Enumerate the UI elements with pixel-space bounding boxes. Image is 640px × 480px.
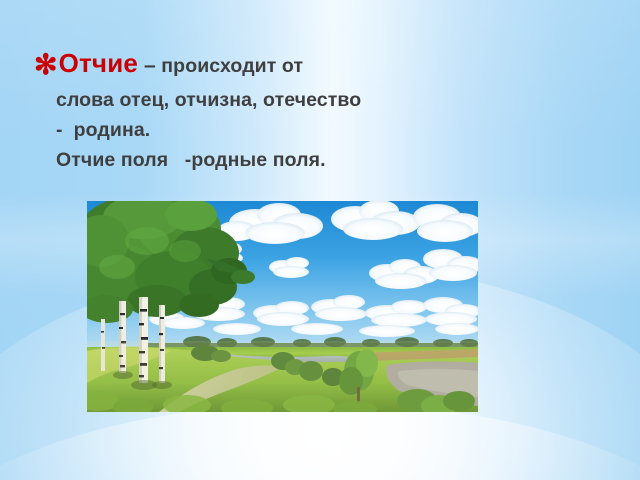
bullet-line-1: ✻Отчие – происходит от (34, 44, 590, 85)
slide-canvas: ✻Отчие – происходит от слова отец, отчиз… (0, 0, 640, 480)
asterisk-bullet-icon: ✻ (34, 46, 58, 84)
landscape-photo-canvas (87, 201, 478, 412)
text-line-2: слова отец, отчизна, отечество (34, 85, 590, 115)
line-1-rest: происходит от (156, 55, 303, 77)
text-block: ✻Отчие – происходит от слова отец, отчиз… (34, 44, 590, 175)
text-line-3: - родина. (34, 115, 590, 145)
text-line-4: Отчие поля -родные поля. (34, 145, 590, 175)
keyword-otchie: Отчие (59, 48, 139, 78)
landscape-photo (87, 201, 478, 412)
landscape-photo-svg (87, 201, 478, 412)
en-dash: – (138, 54, 156, 77)
